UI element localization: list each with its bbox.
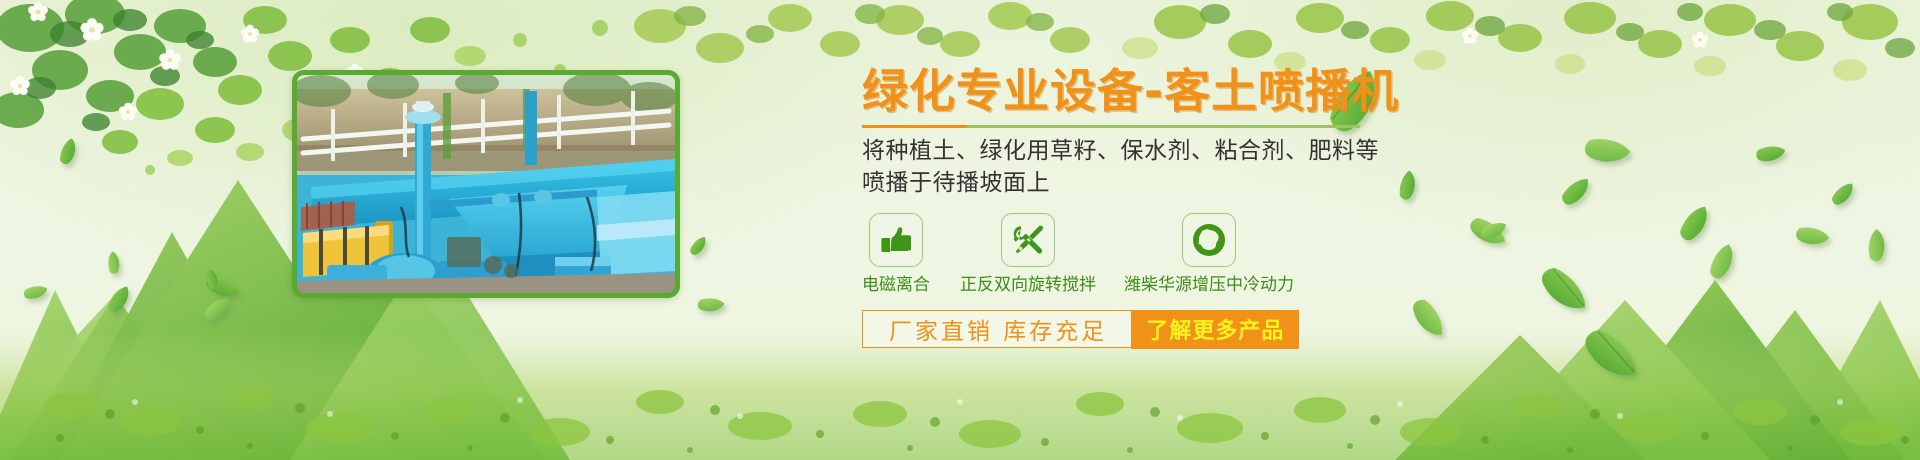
banner-content: 绿化专业设备-客土喷播机 将种植土、绿化用草籽、保水剂、粘合剂、肥料等 喷播于待… <box>862 64 1602 348</box>
title-divider <box>862 125 1360 128</box>
feature-item-2: 潍柴华源增压中冷动力 <box>1124 213 1294 296</box>
engine-power-glyph <box>1190 221 1228 259</box>
subtitle-line-2: 喷播于待播坡面上 <box>862 167 1602 199</box>
wrench-screwdriver-icon <box>1001 213 1055 267</box>
page-title: 绿化专业设备-客土喷播机 <box>862 64 1602 118</box>
engine-power-icon <box>1182 213 1236 267</box>
product-photo-illustration <box>297 75 675 293</box>
banner-subtitle: 将种植土、绿化用草籽、保水剂、粘合剂、肥料等 喷播于待播坡面上 <box>862 135 1602 199</box>
feature-label-2: 潍柴华源增压中冷动力 <box>1124 274 1294 296</box>
cta-bar: 厂家直销 库存充足 了解更多产品 <box>862 310 1299 348</box>
cta-slogan: 厂家直销 库存充足 <box>863 311 1131 347</box>
feature-item-1: 正反双向旋转搅拌 <box>960 213 1096 296</box>
feature-label-0: 电磁离合 <box>862 274 930 296</box>
feature-label-1: 正反双向旋转搅拌 <box>960 274 1096 296</box>
product-photo-frame[interactable] <box>292 70 680 298</box>
product-photo <box>297 75 675 293</box>
feature-item-0: 电磁离合 <box>862 213 930 296</box>
wrench-screwdriver-glyph <box>1011 223 1045 257</box>
thumbs-up-icon <box>869 213 923 267</box>
feature-list: 电磁离合 <box>862 213 1602 296</box>
learn-more-button[interactable]: 了解更多产品 <box>1131 310 1299 349</box>
thumbs-up-glyph <box>879 225 913 255</box>
subtitle-line-1: 将种植土、绿化用草籽、保水剂、粘合剂、肥料等 <box>862 135 1602 167</box>
promo-banner: 绿化专业设备-客土喷播机 将种植土、绿化用草籽、保水剂、粘合剂、肥料等 喷播于待… <box>0 0 1920 460</box>
